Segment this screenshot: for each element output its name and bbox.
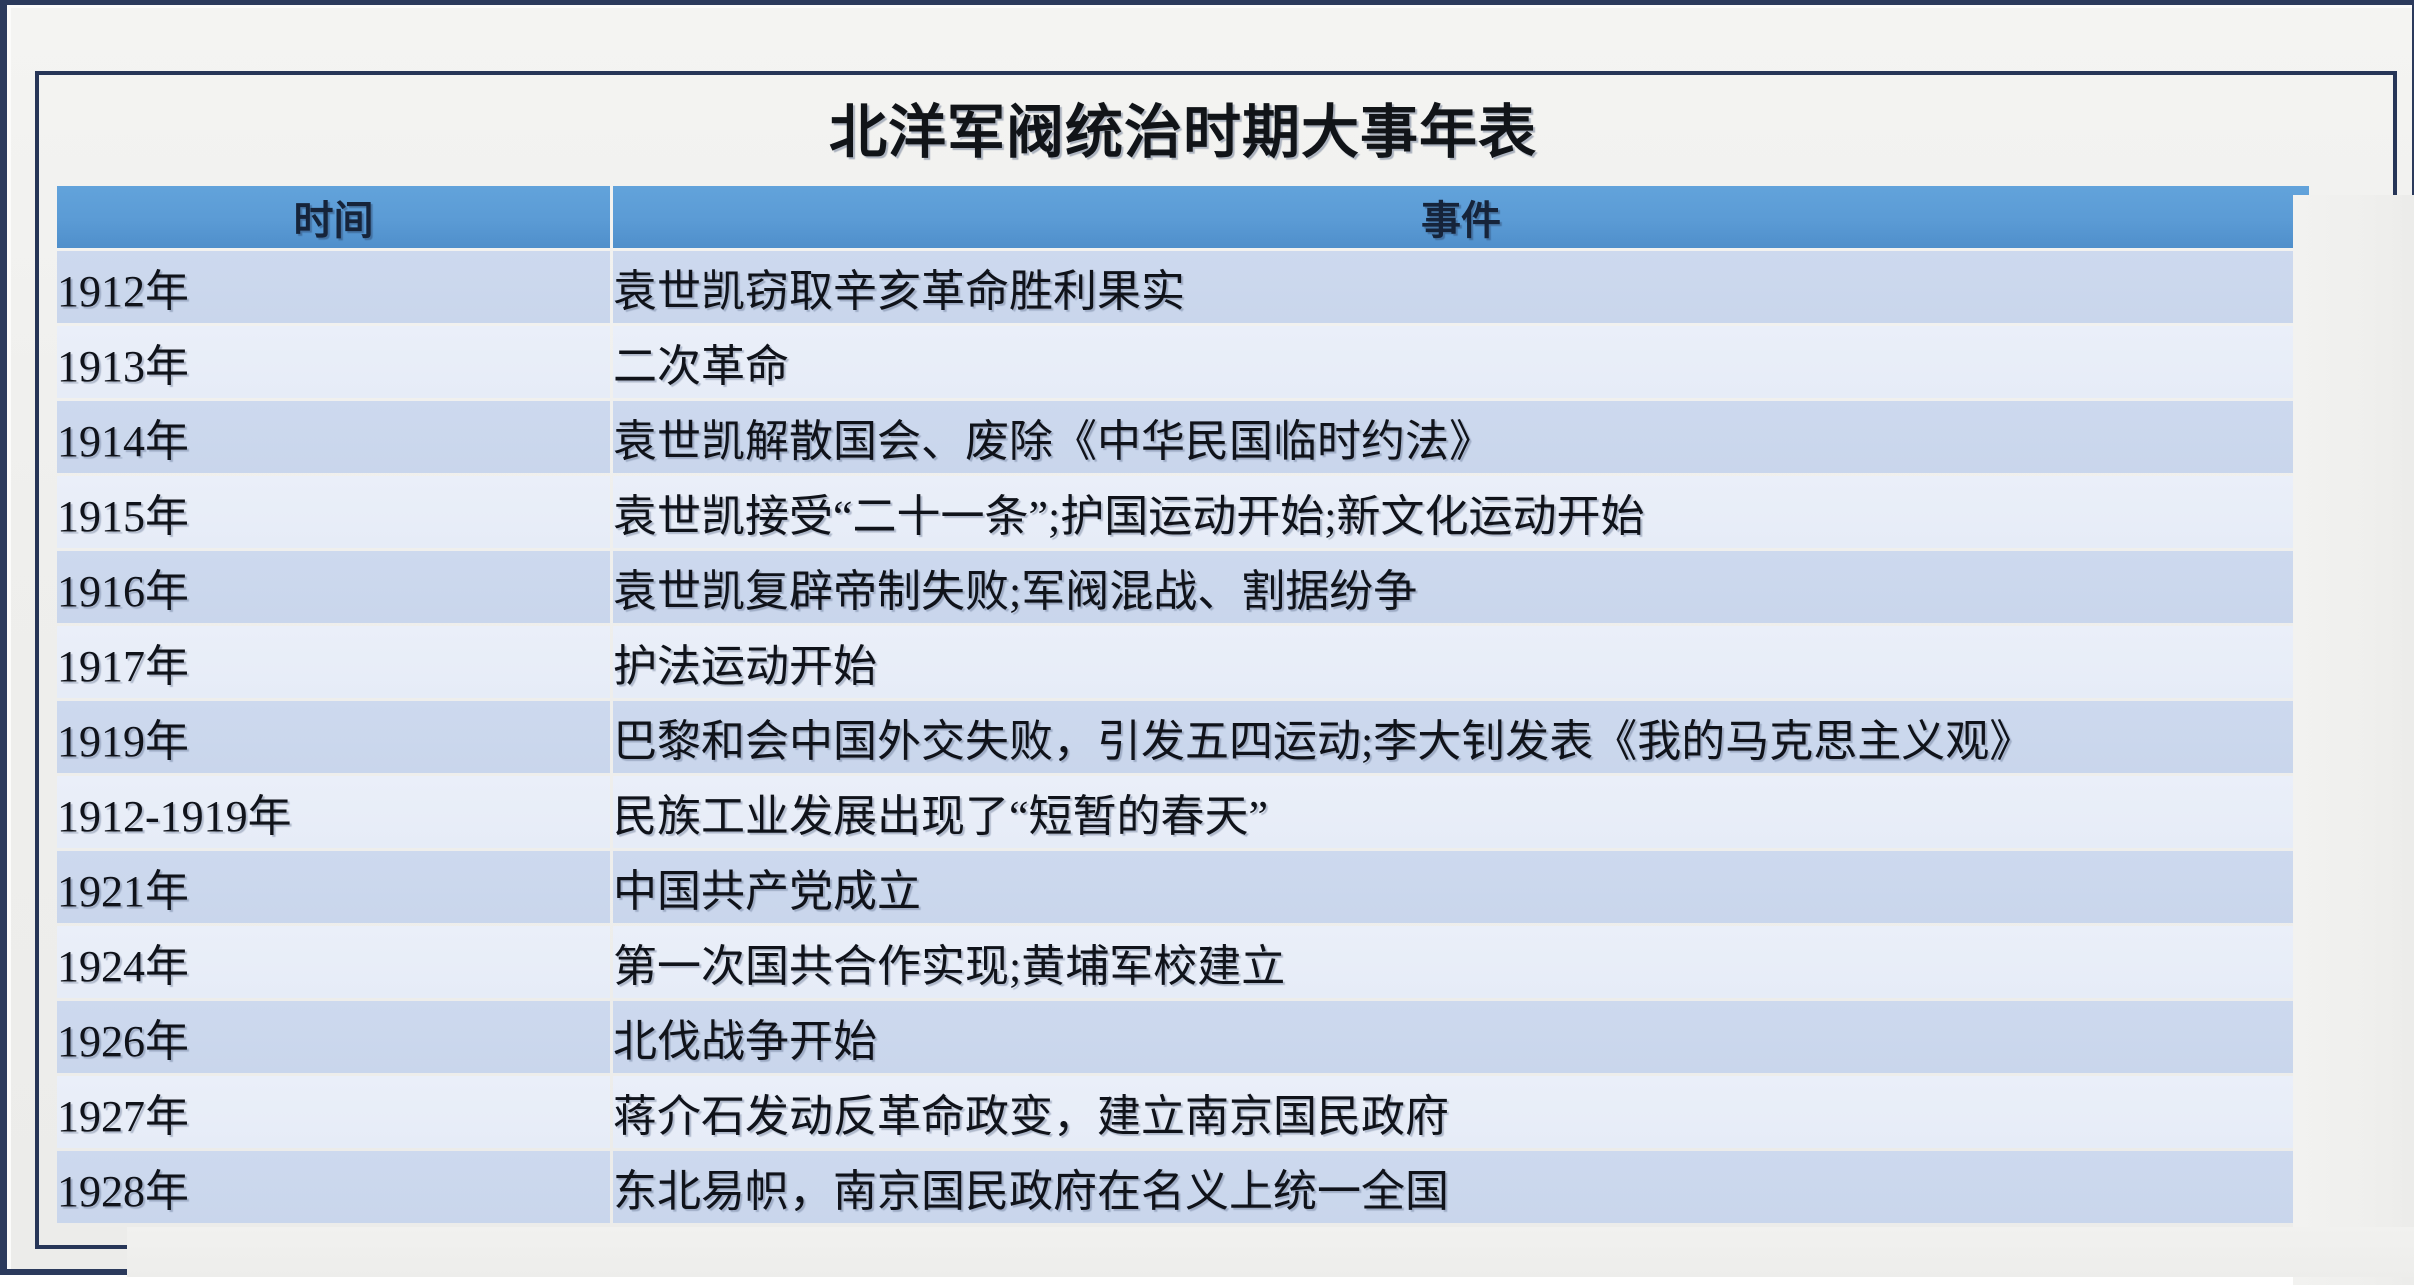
table-row: 1917年护法运动开始 [57,626,2309,698]
cell-time: 1919年 [57,701,610,773]
cell-event: 护法运动开始 [613,626,2309,698]
cell-event: 袁世凯复辟帝制失败;军阀混战、割据纷争 [613,551,2309,623]
cell-event: 东北易帜，南京国民政府在名义上统一全国 [613,1151,2309,1223]
cell-time: 1928年 [57,1151,610,1223]
cell-event: 袁世凯接受“二十一条”;护国运动开始;新文化运动开始 [613,476,2309,548]
cell-event: 北伐战争开始 [613,1001,2309,1073]
column-header-time: 时间 [57,186,610,248]
table-row: 1926年北伐战争开始 [57,1001,2309,1073]
cell-time: 1914年 [57,401,610,473]
cell-time: 1916年 [57,551,610,623]
cell-event: 蒋介石发动反革命政变，建立南京国民政府 [613,1076,2309,1148]
cell-time: 1912-1919年 [57,776,610,848]
cell-event: 袁世凯解散国会、废除《中华民国临时约法》 [613,401,2309,473]
table-head: 时间 事件 [57,186,2309,248]
cell-event: 第一次国共合作实现;黄埔军校建立 [613,926,2309,998]
cell-time: 1926年 [57,1001,610,1073]
table-row: 1915年袁世凯接受“二十一条”;护国运动开始;新文化运动开始 [57,476,2309,548]
right-page-margin [2293,195,2414,1285]
events-table: 时间 事件 1912年袁世凯窃取辛亥革命胜利果实1913年二次革命1914年袁世… [54,183,2312,1226]
table-row: 1912年袁世凯窃取辛亥革命胜利果实 [57,251,2309,323]
table-row: 1916年袁世凯复辟帝制失败;军阀混战、割据纷争 [57,551,2309,623]
cell-time: 1913年 [57,326,610,398]
table-row: 1913年二次革命 [57,326,2309,398]
table-row: 1921年中国共产党成立 [57,851,2309,923]
slide-canvas: 北洋军阀统治时期大事年表 时间 事件 1912年袁世凯窃取辛亥革命胜利果实191… [0,0,2414,1275]
cell-event: 二次革命 [613,326,2309,398]
table-row: 1912-1919年民族工业发展出现了“短暂的春天” [57,776,2309,848]
bottom-page-margin [127,1227,2414,1277]
table-row: 1919年巴黎和会中国外交失败，引发五四运动;李大钊发表《我的马克思主义观》 [57,701,2309,773]
cell-time: 1915年 [57,476,610,548]
cell-event: 中国共产党成立 [613,851,2309,923]
page-title: 北洋军阀统治时期大事年表 [54,83,2312,183]
cell-event: 袁世凯窃取辛亥革命胜利果实 [613,251,2309,323]
cell-time: 1912年 [57,251,610,323]
timeline-table-block: 北洋军阀统治时期大事年表 时间 事件 1912年袁世凯窃取辛亥革命胜利果实191… [54,83,2312,1235]
table-row: 1927年蒋介石发动反革命政变，建立南京国民政府 [57,1076,2309,1148]
column-header-event: 事件 [613,186,2309,248]
cell-time: 1917年 [57,626,610,698]
table-row: 1914年袁世凯解散国会、废除《中华民国临时约法》 [57,401,2309,473]
cell-event: 巴黎和会中国外交失败，引发五四运动;李大钊发表《我的马克思主义观》 [613,701,2309,773]
cell-event: 民族工业发展出现了“短暂的春天” [613,776,2309,848]
header-row: 时间 事件 [57,186,2309,248]
table-row: 1928年东北易帜，南京国民政府在名义上统一全国 [57,1151,2309,1223]
table-row: 1924年第一次国共合作实现;黄埔军校建立 [57,926,2309,998]
cell-time: 1924年 [57,926,610,998]
table-body: 1912年袁世凯窃取辛亥革命胜利果实1913年二次革命1914年袁世凯解散国会、… [57,251,2309,1223]
cell-time: 1921年 [57,851,610,923]
cell-time: 1927年 [57,1076,610,1148]
